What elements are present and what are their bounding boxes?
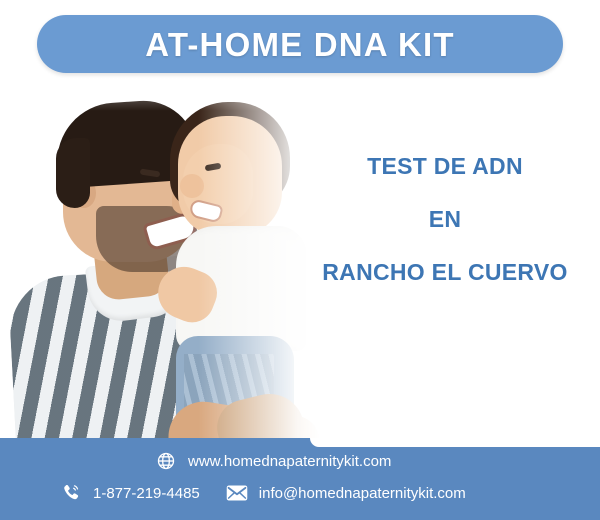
phone-label: 1-877-219-4485 [93,486,200,501]
phone-item[interactable]: 1-877-219-4485 [60,482,200,504]
website-item[interactable]: www.homednapaternitykit.com [155,450,391,472]
headline-line-3: RANCHO EL CUERVO [300,261,590,284]
website-label: www.homednapaternitykit.com [188,454,391,469]
toddler-nose [180,174,204,198]
globe-icon [155,450,177,472]
footer-notch [310,438,600,447]
phone-icon [60,482,82,504]
headline-line-1: TEST DE ADN [300,155,590,178]
title-banner: AT-HOME DNA KIT [37,15,563,73]
envelope-icon [226,482,248,504]
footer-contact-row: 1-877-219-4485 info@homednapaternitykit.… [60,482,466,504]
father-sideburn [56,138,90,208]
family-photo [0,78,320,443]
email-item[interactable]: info@homednapaternitykit.com [226,482,466,504]
page-title: AT-HOME DNA KIT [145,28,454,61]
footer-website-row: www.homednapaternitykit.com [155,450,391,472]
email-label: info@homednapaternitykit.com [259,486,466,501]
headline-block: TEST DE ADN EN RANCHO EL CUERVO [300,155,590,284]
contact-footer: www.homednapaternitykit.com 1-877-219-44… [0,438,600,520]
headline-line-2: EN [300,208,590,231]
promo-card: AT-HOME DNA KIT TEST DE ADN EN [0,0,600,520]
